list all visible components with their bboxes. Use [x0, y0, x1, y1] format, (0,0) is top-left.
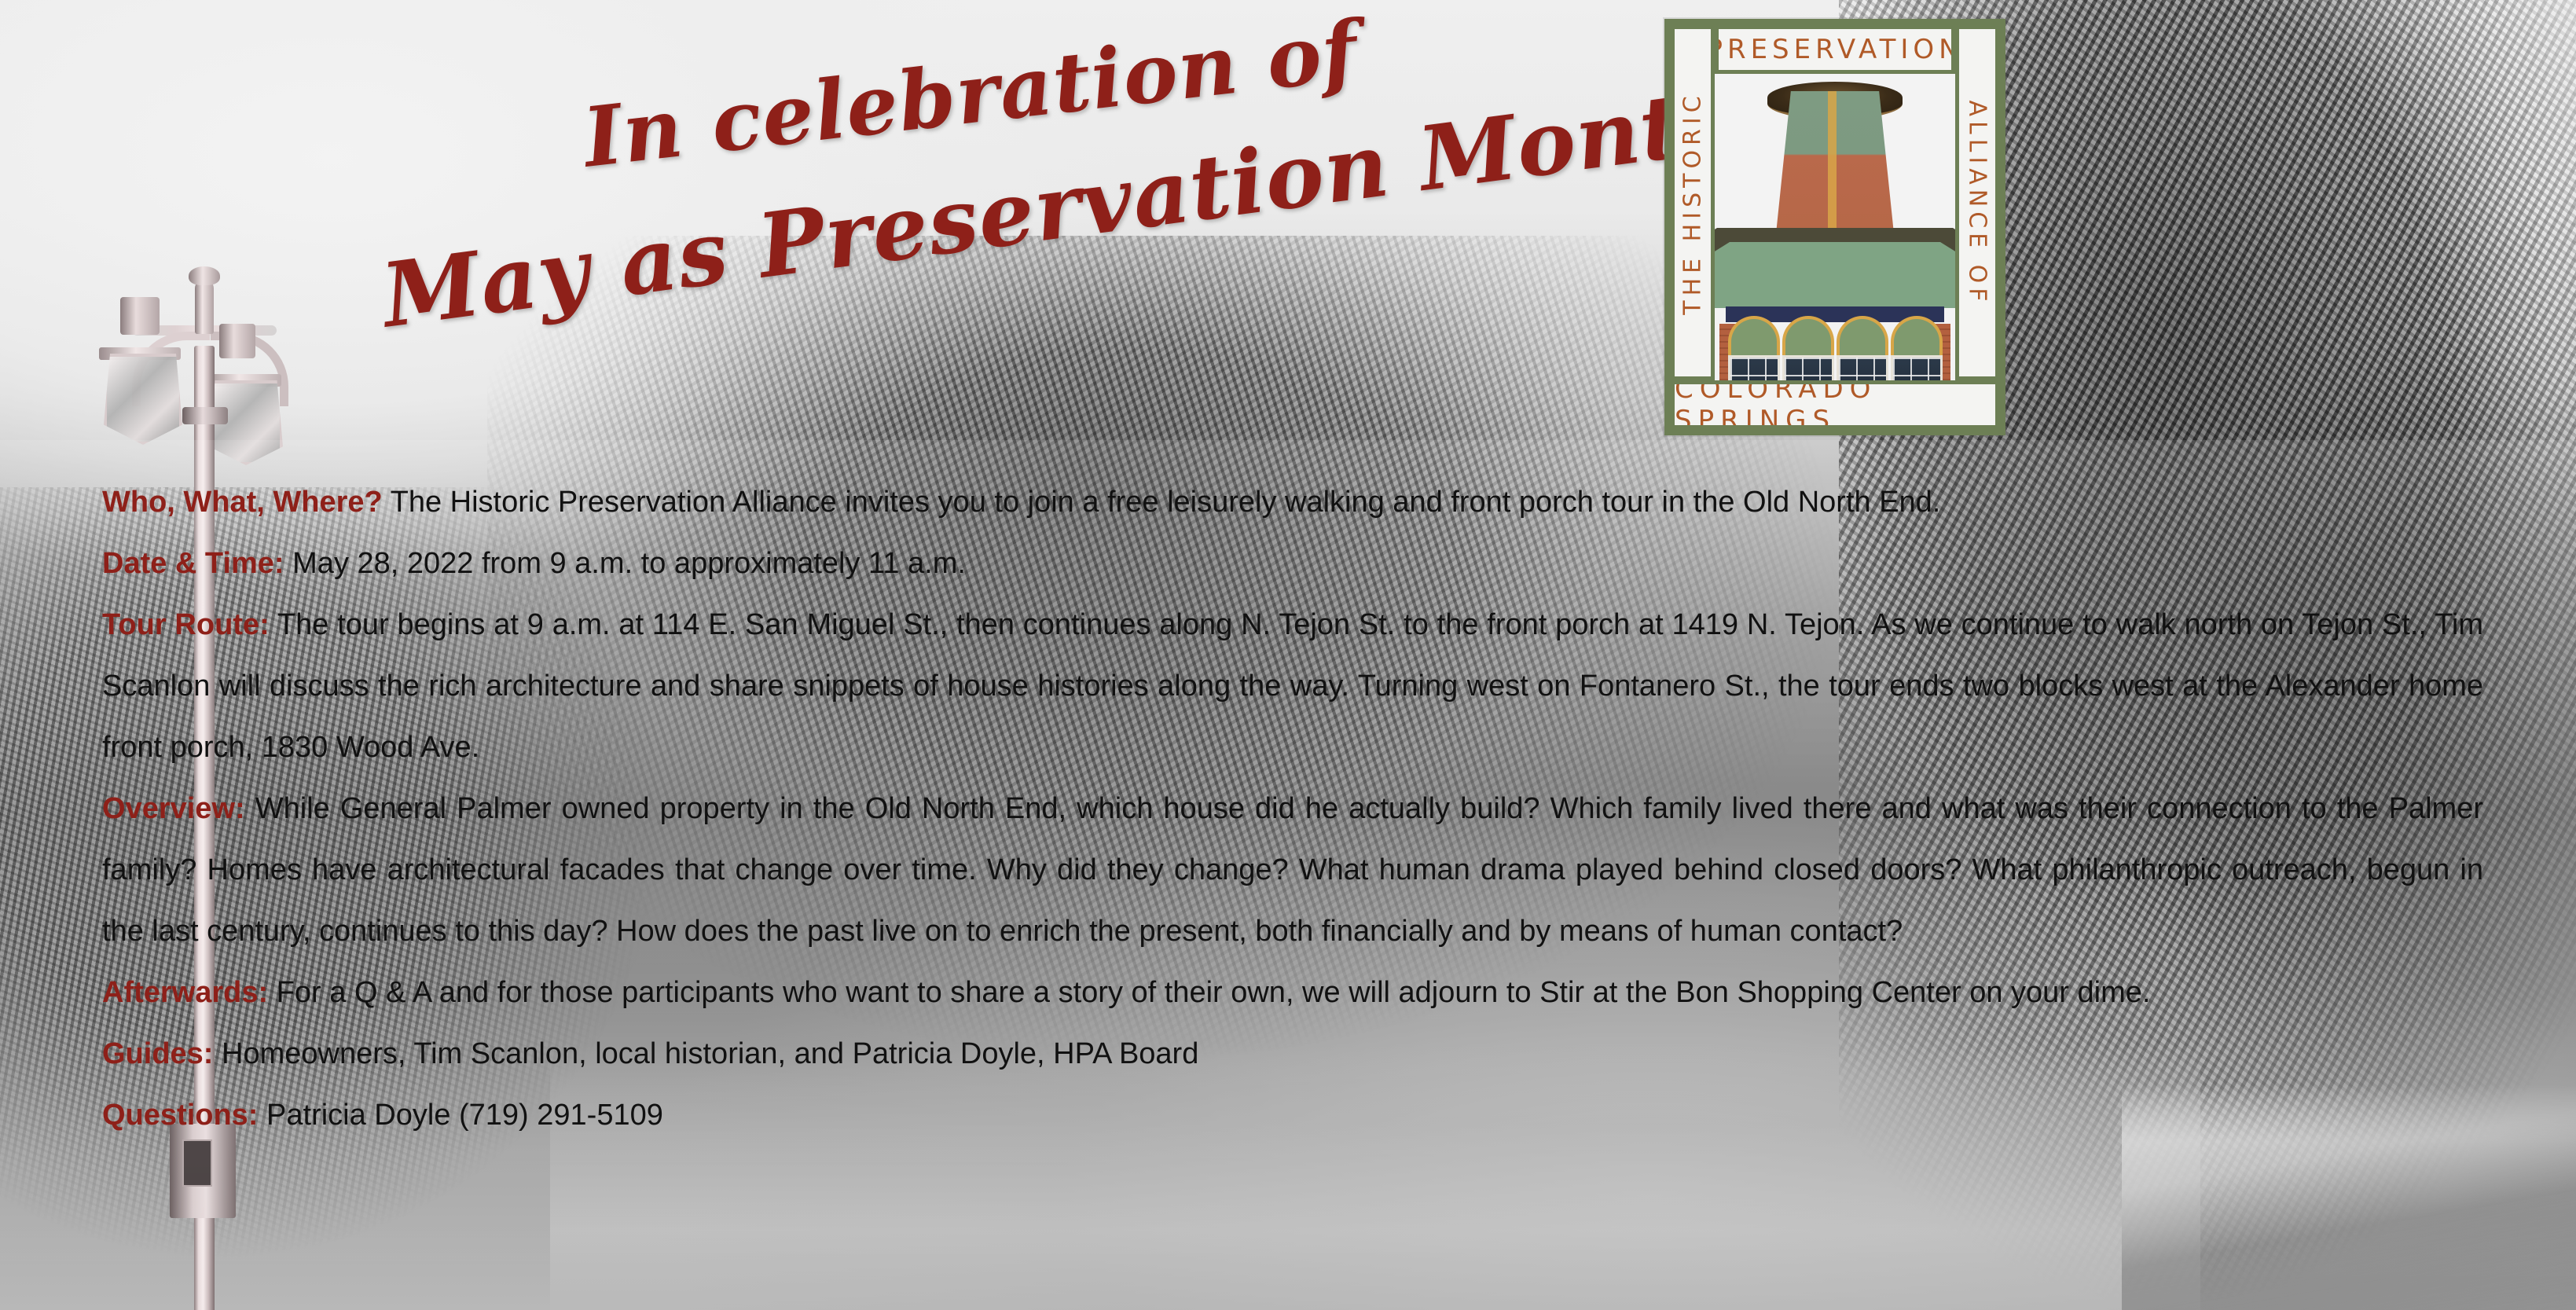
- lamp-lantern-left: [104, 354, 182, 445]
- hpa-logo: THE HISTORIC PRESERVATION ALLIANCE OF CO…: [1664, 19, 2005, 435]
- lamp-finial: [195, 279, 214, 334]
- section-body-afterwards: For a Q & A and for those participants w…: [268, 976, 2150, 1009]
- section-tour-route: Tour Route: The tour begins at 9 a.m. at…: [102, 594, 2483, 778]
- logo-right-label: ALLIANCE OF: [1964, 100, 1991, 306]
- section-body-date-time: May 28, 2022 from 9 a.m. to approximatel…: [284, 547, 966, 580]
- section-label-who-what-where: Who, What, Where?: [102, 486, 383, 519]
- logo-text-right: ALLIANCE OF: [1955, 25, 1999, 380]
- building-gable: [1715, 242, 1955, 308]
- logo-left-label: THE HISTORIC: [1679, 91, 1707, 314]
- logo-text-top: PRESERVATION: [1715, 25, 1955, 74]
- logo-text-left: THE HISTORIC: [1671, 25, 1715, 380]
- section-label-overview: Overview:: [102, 792, 245, 825]
- section-label-questions: Questions:: [102, 1099, 258, 1132]
- lamp-lantern-cap-box-right: [219, 324, 255, 358]
- section-questions: Questions: Patricia Doyle (719) 291-5109: [102, 1084, 2483, 1146]
- section-afterwards: Afterwards: For a Q & A and for those pa…: [102, 962, 2483, 1023]
- lamp-post-base-access-door: [182, 1139, 212, 1187]
- section-label-guides: Guides:: [102, 1037, 213, 1070]
- section-label-tour-route: Tour Route:: [102, 608, 270, 641]
- lamp-post-collar: [182, 407, 228, 424]
- logo-top-label: PRESERVATION: [1715, 34, 1955, 65]
- section-overview: Overview: While General Palmer owned pro…: [102, 778, 2483, 962]
- section-label-date-time: Date & Time:: [102, 547, 284, 580]
- section-label-afterwards: Afterwards:: [102, 976, 268, 1009]
- section-body-who-what-where: The Historic Preservation Alliance invit…: [383, 486, 1941, 519]
- section-guides: Guides: Homeowners, Tim Scanlon, local h…: [102, 1023, 2483, 1084]
- section-who-what-where: Who, What, Where? The Historic Preservat…: [102, 472, 2483, 533]
- logo-text-bottom: COLORADO SPRINGS: [1671, 380, 1999, 429]
- preservation-month-flyer: In celebration of May as Preservation Mo…: [0, 0, 2576, 1310]
- flyer-body-text: Who, What, Where? The Historic Preservat…: [102, 472, 2483, 1146]
- section-date-time: Date & Time: May 28, 2022 from 9 a.m. to…: [102, 533, 2483, 594]
- lamp-lantern-cap-box-left: [120, 297, 160, 335]
- section-body-questions: Patricia Doyle (719) 291-5109: [258, 1099, 662, 1132]
- section-body-overview: While General Palmer owned property in t…: [102, 792, 2483, 948]
- building-arches: [1724, 316, 1946, 358]
- logo-bottom-label: COLORADO SPRINGS: [1675, 380, 1995, 429]
- section-body-guides: Homeowners, Tim Scanlon, local historian…: [213, 1037, 1198, 1070]
- logo-building-icon: [1715, 74, 1955, 380]
- section-body-tour-route: The tour begins at 9 a.m. at 114 E. San …: [102, 608, 2483, 764]
- building-windows: [1724, 355, 1946, 380]
